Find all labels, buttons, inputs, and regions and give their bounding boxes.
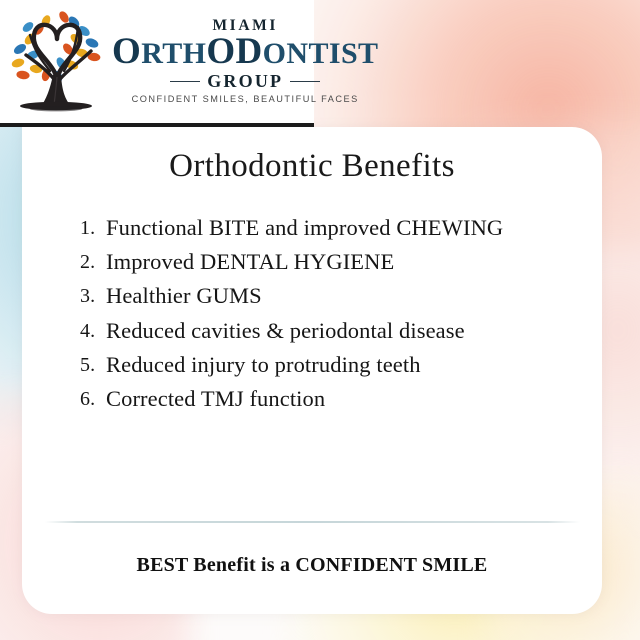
logo-line-orthodontist: ORTHODONTIST [112,34,378,70]
logo-wordmark: MIAMI ORTHODONTIST GROUP CONFIDENT SMILE… [110,18,382,105]
list-item: 6. Corrected TMJ function [80,382,566,416]
list-item: 5. Reduced injury to protruding teeth [80,348,566,382]
logo-cap-d: D [236,31,263,72]
logo-underline-rule [0,123,314,127]
logo-rule-right [290,81,320,83]
list-item: 4. Reduced cavities & periodontal diseas… [80,314,566,348]
logo-inner: MIAMI ORTHODONTIST GROUP CONFIDENT SMILE… [0,0,314,122]
footer-divider [45,521,580,523]
logo-tagline: CONFIDENT SMILES, BEAUTIFUL FACES [112,95,378,104]
tree-tooth-heart-logo-icon [6,5,110,117]
list-item-label: Healthier GUMS [106,279,566,313]
list-item: 1. Functional BITE and improved CHEWING [80,211,566,245]
logo-rule-left [170,81,200,83]
logo-line-group: GROUP [207,72,283,90]
page-title: Orthodontic Benefits [22,148,602,185]
content-card: Orthodontic Benefits 1. Functional BITE … [22,127,602,614]
list-item-number: 6. [80,382,106,414]
list-item-number: 2. [80,245,106,277]
list-item-label: Improved DENTAL HYGIENE [106,245,566,279]
logo-block: MIAMI ORTHODONTIST GROUP CONFIDENT SMILE… [0,0,314,127]
logo-cap-o2: O [206,31,235,72]
list-item-label: Functional BITE and improved CHEWING [106,211,566,245]
list-item: 3. Healthier GUMS [80,279,566,313]
list-item-label: Corrected TMJ function [106,382,566,416]
list-item-number: 5. [80,348,106,380]
list-item: 2. Improved DENTAL HYGIENE [80,245,566,279]
logo-cap-o: O [112,31,141,72]
list-item-label: Reduced injury to protruding teeth [106,348,566,382]
benefits-list: 1. Functional BITE and improved CHEWING … [80,211,566,416]
list-item-number: 1. [80,211,106,243]
logo-text-rth: RTH [141,37,206,70]
footer-tagline: BEST Benefit is a CONFIDENT SMILE [22,554,602,577]
list-item-label: Reduced cavities & periodontal disease [106,314,566,348]
poster-canvas: Orthodontic Benefits 1. Functional BITE … [0,0,640,640]
list-item-number: 4. [80,314,106,346]
logo-group-row: GROUP [112,72,378,90]
logo-text-ontist: ONTIST [263,37,379,70]
list-item-number: 3. [80,279,106,311]
